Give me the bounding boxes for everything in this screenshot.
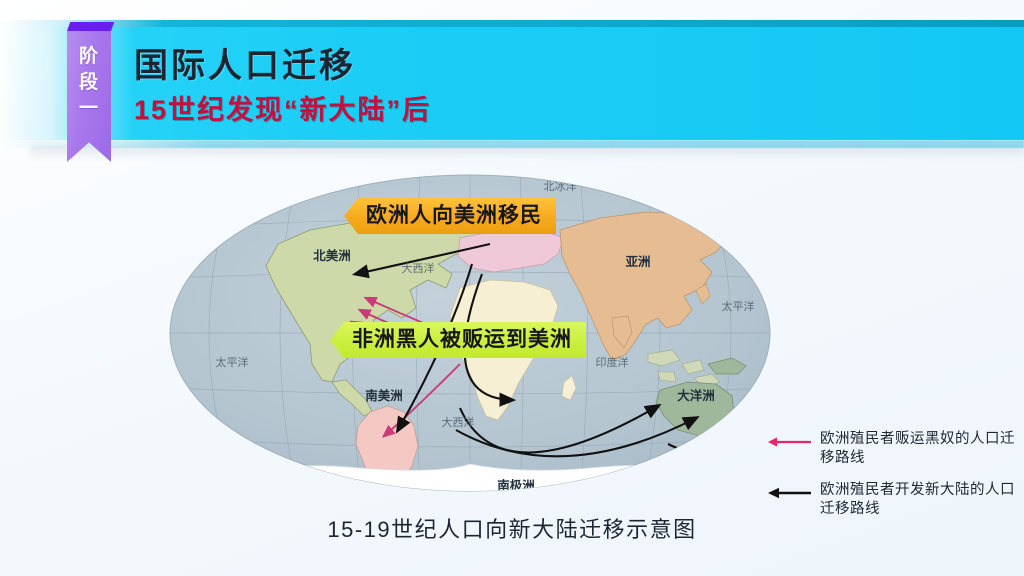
black-arrow-icon — [768, 485, 812, 501]
ocean-label-pacific-east: 太平洋 — [722, 299, 755, 313]
continent-label-south-america: 南美洲 — [365, 388, 403, 403]
pink-arrow-icon — [768, 434, 812, 450]
landmass-antarctica — [180, 464, 760, 498]
stage-ribbon: 阶 段 一 — [67, 22, 111, 162]
continent-label-oceania: 大洋洲 — [677, 388, 715, 403]
ocean-label-arctic: 北冰洋 — [544, 179, 577, 193]
watermark-label: @canmeippt — [331, 482, 382, 492]
ocean-label-pacific-west: 太平洋 — [216, 355, 249, 369]
page-subtitle: 15世纪发现“新大陆”后 — [134, 88, 431, 127]
callout-europe-to-america: 欧洲人向美洲移民 — [344, 198, 556, 234]
continent-label-asia: 亚洲 — [625, 255, 650, 269]
callout-africa-to-america: 非洲黑人被贩运到美洲 — [330, 322, 586, 358]
legend-item-slave-route: 欧洲殖民者贩运黑奴的人口迁移路线 — [768, 430, 1018, 468]
legend-label-slave-route: 欧洲殖民者贩运黑奴的人口迁移路线 — [820, 430, 1018, 468]
continent-label-antarctica: 南极洲 — [497, 478, 535, 493]
landmass-new-zealand — [746, 418, 760, 438]
ribbon-char-3: 一 — [67, 96, 111, 122]
ocean-label-atlantic-south: 大西洋 — [442, 415, 475, 429]
ocean-label-indian: 印度洋 — [596, 355, 629, 369]
header-band-top-stripe — [0, 20, 1024, 27]
landmass-south-america — [356, 406, 418, 508]
ribbon-char-1: 阶 — [67, 44, 111, 70]
map-caption: 15-19世纪人口向新大陆迁移示意图 — [0, 512, 1024, 544]
ribbon-char-2: 段 — [67, 70, 111, 96]
continent-label-north-america: 北美洲 — [313, 248, 351, 263]
page-title: 国际人口迁移 — [134, 38, 356, 87]
header-drop-shadow — [30, 146, 1024, 160]
ocean-label-atlantic-north: 大西洋 — [402, 261, 435, 275]
ribbon-label: 阶 段 一 — [67, 44, 111, 122]
ribbon-cap — [67, 22, 114, 31]
